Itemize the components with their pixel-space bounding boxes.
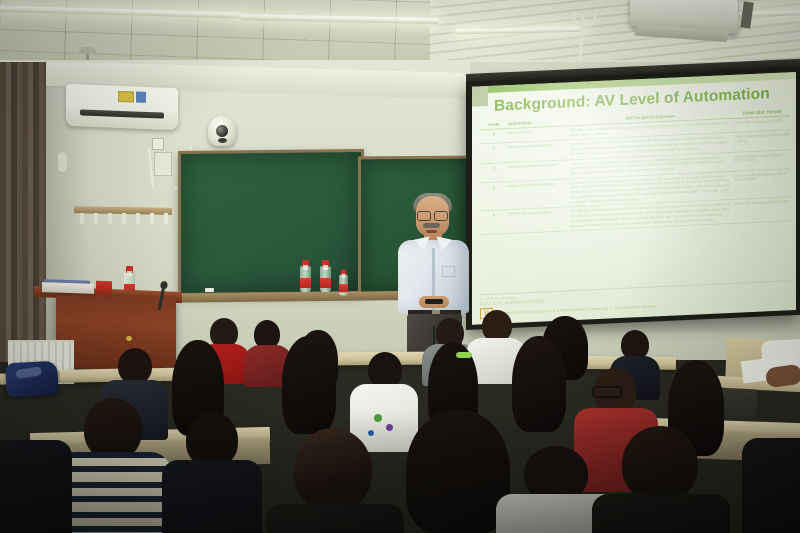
eyeglasses-icon: [417, 211, 448, 219]
student-long-hair: [278, 336, 338, 438]
student-head: [118, 348, 152, 384]
projection-screen: Background: AV Level of Automation Level…: [466, 67, 800, 330]
bottle-neck: [303, 265, 308, 270]
student-torso: [162, 460, 262, 533]
bottle-label: [339, 284, 348, 292]
classroom-scene: Background: AV Level of Automation Level…: [0, 0, 800, 533]
water-bottle: [320, 266, 331, 292]
camera-lens-icon: [216, 125, 228, 137]
bottle-neck: [323, 265, 328, 270]
student-edge-right: [742, 438, 800, 533]
chalkboard-surface: [181, 152, 361, 293]
bottle-label: [320, 278, 331, 288]
lectern-knob: [126, 336, 132, 341]
cell-level: 3: [480, 184, 508, 191]
wall-plate: [154, 152, 172, 176]
cell-driver: Driver fully engaged (pre-2000): [734, 118, 790, 125]
slide-footer: UNIVERSITY OF MIAMI COLLEGE of ENGINEERI…: [480, 280, 790, 319]
coat-hook-icon: [136, 213, 140, 224]
coat-hook-icon: [94, 213, 98, 224]
column-header-level: Level: [480, 121, 508, 127]
student-torso: [742, 438, 800, 533]
presentation-slide: Background: AV Level of Automation Level…: [472, 72, 796, 325]
student-head: [368, 352, 402, 388]
air-conditioner-unit: [66, 84, 178, 130]
cell-level: 4: [480, 212, 508, 219]
cell-level: 1: [480, 146, 508, 153]
cell-automation: No Automation: [508, 128, 570, 136]
student-hair: [512, 336, 566, 432]
hair-clip: [456, 352, 472, 358]
water-bottle: [300, 266, 311, 292]
student-head: [622, 426, 698, 502]
ac-vent: [80, 109, 164, 118]
wall-fixture: [58, 152, 67, 172]
water-bottle: [339, 275, 348, 296]
student-torso: [266, 504, 404, 533]
bottle-neck: [342, 274, 346, 278]
student-hair: [282, 336, 336, 434]
student-bald-front: [272, 428, 398, 533]
slide-corner-accent: [472, 86, 488, 107]
student-hair: [406, 410, 510, 533]
bottle-neck: [127, 271, 132, 276]
cell-level: 2: [480, 165, 508, 172]
student-edge-left: [0, 440, 70, 533]
student-torso: [592, 494, 730, 533]
stacked-books: [42, 282, 94, 294]
eyeglasses-icon: [592, 386, 622, 398]
student-head: [84, 398, 142, 460]
ac-sticker: [136, 92, 146, 103]
red-box: [96, 281, 112, 295]
cell-automation: Function-specific Automation: [508, 143, 570, 151]
coat-hook-icon: [122, 213, 126, 224]
chalkboard: [178, 149, 364, 296]
coat-hook-icon: [164, 213, 168, 224]
cell-automation: Limited Self-Driving Automation: [508, 181, 570, 189]
cell-driver: Driver partially engaged (Driver 2010 to…: [734, 152, 790, 164]
backpack: [5, 361, 59, 398]
student-dark-front: [598, 426, 724, 533]
column-header-driver: Driver (Est. Period): [734, 108, 790, 116]
student-striped-polo: [58, 398, 168, 533]
cell-driver: Driver fully disengaged (post-2030): [734, 200, 790, 207]
slide-table: Level Automation NHTSA (2013) Definition…: [480, 108, 790, 235]
shirt-pocket: [442, 266, 455, 277]
cell-driver: Driver mostly engaged (Driver 2000 to 20…: [734, 133, 790, 145]
ac-sticker: [118, 91, 134, 103]
coat-hook-icon: [80, 213, 84, 224]
student-head: [294, 428, 372, 512]
dome-security-camera: [208, 116, 236, 146]
cell-driver: Driver partially disengaged (Driver 2020…: [734, 171, 790, 183]
window-curtain: [0, 62, 46, 362]
cell-automation: Full Self-Driving Automation: [508, 210, 570, 218]
column-header-automation: Automation: [508, 118, 570, 126]
coat-hook-icon: [108, 213, 112, 224]
student-torso: [0, 440, 72, 533]
student-dark-figure: [166, 412, 258, 533]
cell-level: 0: [480, 131, 508, 138]
bottle-label: [300, 278, 311, 288]
presenter-mustache: [423, 223, 440, 228]
chalk-piece: [205, 288, 214, 292]
presentation-clicker: [425, 299, 443, 304]
ceiling-projector: [630, 0, 738, 34]
wall-junction-box: [152, 138, 164, 150]
cell-automation: Combined Function Automation: [508, 162, 570, 170]
floral-print: [374, 414, 382, 422]
cell-definition: The vehicle is designed to perform all s…: [570, 202, 734, 228]
coat-hook-icon: [150, 213, 154, 224]
cell-definition: Vehicles at this level of automation ena…: [570, 174, 734, 205]
